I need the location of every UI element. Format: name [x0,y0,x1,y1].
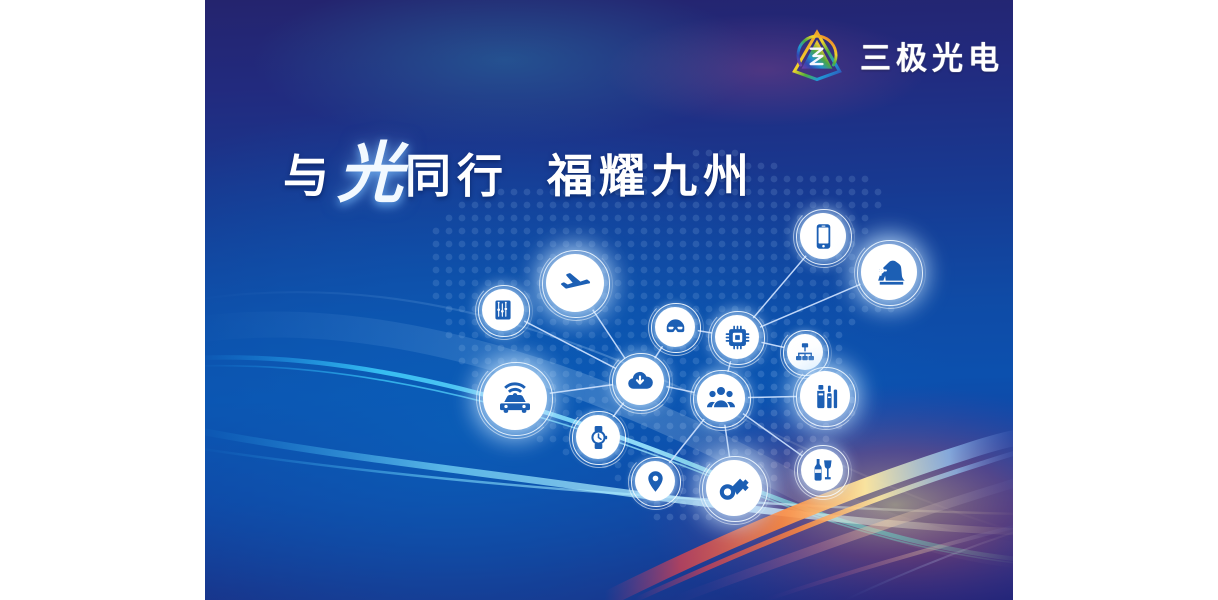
network-node-watch[interactable] [574,413,622,461]
poster-canvas: 三极光电 与 光 同行 福耀九州 [205,0,1013,600]
circuit-board-icon [490,297,516,323]
key-icon [717,471,752,506]
military-scout-icon [872,255,907,290]
network-node-airplane[interactable] [544,252,606,314]
network-node-key[interactable] [704,458,764,518]
node-disc [706,460,762,516]
network-node-wine[interactable] [799,447,845,493]
network-edge [743,414,802,456]
network-node-pin[interactable] [633,459,677,503]
node-disc [616,357,664,405]
network-node-chip[interactable] [713,313,761,361]
network-node-vr[interactable] [653,305,697,349]
network-node-pcb[interactable] [480,287,526,333]
network-edge [753,256,806,318]
node-disc [800,371,850,421]
location-pin-icon [643,469,668,494]
network-node-people[interactable] [695,372,747,424]
smart-car-icon [495,378,535,418]
node-disc [635,461,675,501]
network-node-phone[interactable] [798,211,848,261]
airplane-icon [557,265,593,301]
network-edge [669,419,704,463]
node-disc [801,449,843,491]
network-node-soldier[interactable] [859,242,919,302]
network-tree-icon [794,341,816,363]
node-disc [697,374,745,422]
network-edge [593,310,625,359]
network-node-car-wifi[interactable] [481,364,549,432]
smartwatch-icon [585,424,612,451]
node-disc [655,307,695,347]
cpu-chip-icon [724,324,751,351]
cloud-download-icon [625,366,655,396]
network-edge [524,321,616,369]
people-group-icon [706,383,736,413]
network-diagram [205,0,1013,600]
wine-bottle-icon [809,457,835,483]
network-edge [550,385,614,394]
node-disc [800,213,846,259]
network-edge [760,284,861,327]
node-disc [546,254,604,312]
poster-stage: 三极光电 与 光 同行 福耀九州 [0,0,1218,600]
network-node-cloud[interactable] [614,355,666,407]
network-edge [748,397,797,398]
node-disc [483,366,547,430]
network-node-cosmetics[interactable] [798,369,852,423]
node-disc [715,315,759,359]
node-disc [576,415,620,459]
vr-headset-icon [663,315,688,340]
cosmetics-icon [810,381,841,412]
node-disc [482,289,524,331]
smartphone-icon [809,222,838,251]
node-disc [861,244,917,300]
